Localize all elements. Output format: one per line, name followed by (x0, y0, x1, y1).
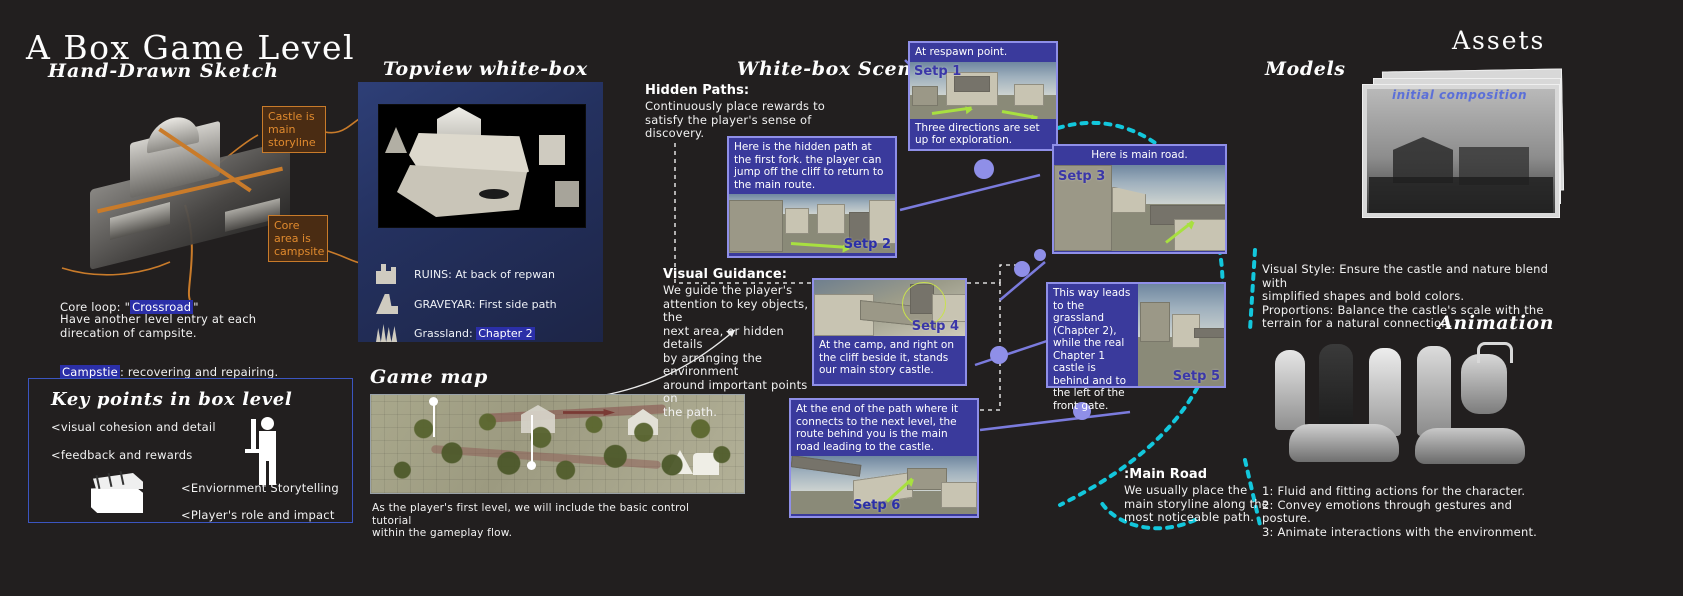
grassland-highlight: Chapter 2 (476, 327, 534, 340)
step-panel-setp-4[interactable]: Setp 4 At the camp, and right on the cli… (812, 278, 967, 386)
step-panel-setp-6[interactable]: At the end of the path where it connects… (789, 398, 979, 518)
grassland-label: Grassland: (414, 327, 476, 340)
animation-title: Animation (1438, 312, 1554, 334)
visual-guidance-title: Visual Guidance: (663, 268, 787, 282)
key-point-2: <feedback and rewards (51, 449, 192, 463)
step-panel-setp-1[interactable]: At respawn point. Setp 1 Three direction… (908, 41, 1058, 151)
grassland-icon (376, 322, 398, 342)
key-points-box: Key points in box level <visual cohesion… (28, 378, 353, 523)
main-road-title: :Main Road (1124, 468, 1207, 482)
setp-6-caption-top: At the end of the path where it connects… (791, 400, 977, 456)
setp-1-label: Setp 1 (914, 64, 961, 79)
setp-5-image: Setp 5 (1138, 284, 1224, 386)
core-loop-line: Core loop: "Crossroad" (60, 287, 199, 314)
animation-notes: 1: Fluid and fitting actions for the cha… (1262, 485, 1562, 539)
setp-6-image: Setp 6 (791, 456, 977, 514)
setp-6-label: Setp 6 (853, 498, 900, 513)
sketch-note: Have another level entry at each direcat… (60, 313, 330, 340)
setp-5-label: Setp 5 (1173, 369, 1220, 384)
setp-1-caption-top: At respawn point. (910, 43, 1056, 62)
setp-4-image: Setp 4 (814, 280, 965, 336)
asset-card-front[interactable] (1362, 84, 1560, 218)
key-point-4: <Player's role and impact (181, 509, 335, 523)
hidden-paths-title: Hidden Paths: (645, 84, 749, 98)
step-panel-setp-5[interactable]: This way leads to the grassland (Chapter… (1046, 282, 1226, 388)
topview-ruins-icon (376, 264, 396, 284)
topview-image (378, 104, 586, 228)
legend-row-grassland: Grassland: Chapter 2 (414, 327, 535, 340)
legend-row-ruins: RUINS: At back of repwan (414, 268, 555, 281)
main-road-body: We usually place the main storyline alon… (1124, 484, 1274, 525)
step-panel-setp-3[interactable]: Here is main road. Setp 3 (1052, 144, 1227, 254)
models-title: Models (1265, 58, 1346, 80)
setp-2-image: Setp 2 (729, 194, 895, 253)
whitebox-scene-title: White-box Scene (737, 58, 924, 80)
animation-models-image (1265, 340, 1565, 475)
setp-3-label: Setp 3 (1058, 169, 1105, 184)
key-point-1: <visual cohesion and detail (51, 421, 216, 435)
setp-2-caption-top: Here is the hidden path at the first for… (729, 138, 895, 194)
setp-2-label: Setp 2 (844, 237, 891, 252)
setp-1-image: Setp 1 (910, 62, 1056, 119)
setp-3-image: Setp 3 (1054, 165, 1225, 251)
hidden-paths-body: Continuously place rewards to satisfy th… (645, 100, 860, 141)
gamemap-caption: As the player's first level, we will inc… (372, 502, 732, 540)
chest-icon (87, 471, 149, 517)
graveyard-label: GRAVEYAR: First side path (414, 298, 557, 311)
setp-4-caption-bottom: At the camp, and right on the cliff besi… (814, 336, 965, 380)
setp-1-caption-bottom: Three directions are set up for explorat… (910, 119, 1056, 150)
legend-row-graveyard: GRAVEYAR: First side path (414, 298, 557, 311)
ruins-label: RUINS: At back of repwan (414, 268, 555, 281)
design-document-page: A Box Game Level Hand-Drawn Sketch Castl… (0, 0, 1683, 596)
graveyard-icon (376, 294, 398, 314)
setp-5-caption-top: This way leads to the grassland (Chapter… (1048, 284, 1138, 386)
campsite-highlight: Campstie (60, 365, 120, 379)
callout-castle: Castle is main storyline (262, 106, 326, 153)
setp-3-caption-top: Here is main road. (1054, 146, 1225, 165)
step-panel-setp-2[interactable]: Here is the hidden path at the first for… (727, 136, 897, 258)
page-subtitle: Hand-Drawn Sketch (48, 60, 279, 82)
card-watermark: initial composition (1392, 88, 1527, 102)
gamemap-title: Game map (370, 366, 488, 388)
key-points-title: Key points in box level (51, 389, 292, 410)
assets-title: Assets (1452, 26, 1545, 55)
topview-panel: RUINS: At back of repwan GRAVEYAR: First… (358, 82, 603, 342)
topview-title: Topview white-box (383, 58, 588, 80)
setp-4-label: Setp 4 (912, 319, 959, 334)
knight-icon (239, 417, 279, 485)
callout-core-area: Core area is campsite (268, 215, 328, 262)
campsite-text: : recovering and repairing. (120, 365, 278, 379)
campsite-line: Campstie: recovering and repairing. (60, 352, 278, 379)
